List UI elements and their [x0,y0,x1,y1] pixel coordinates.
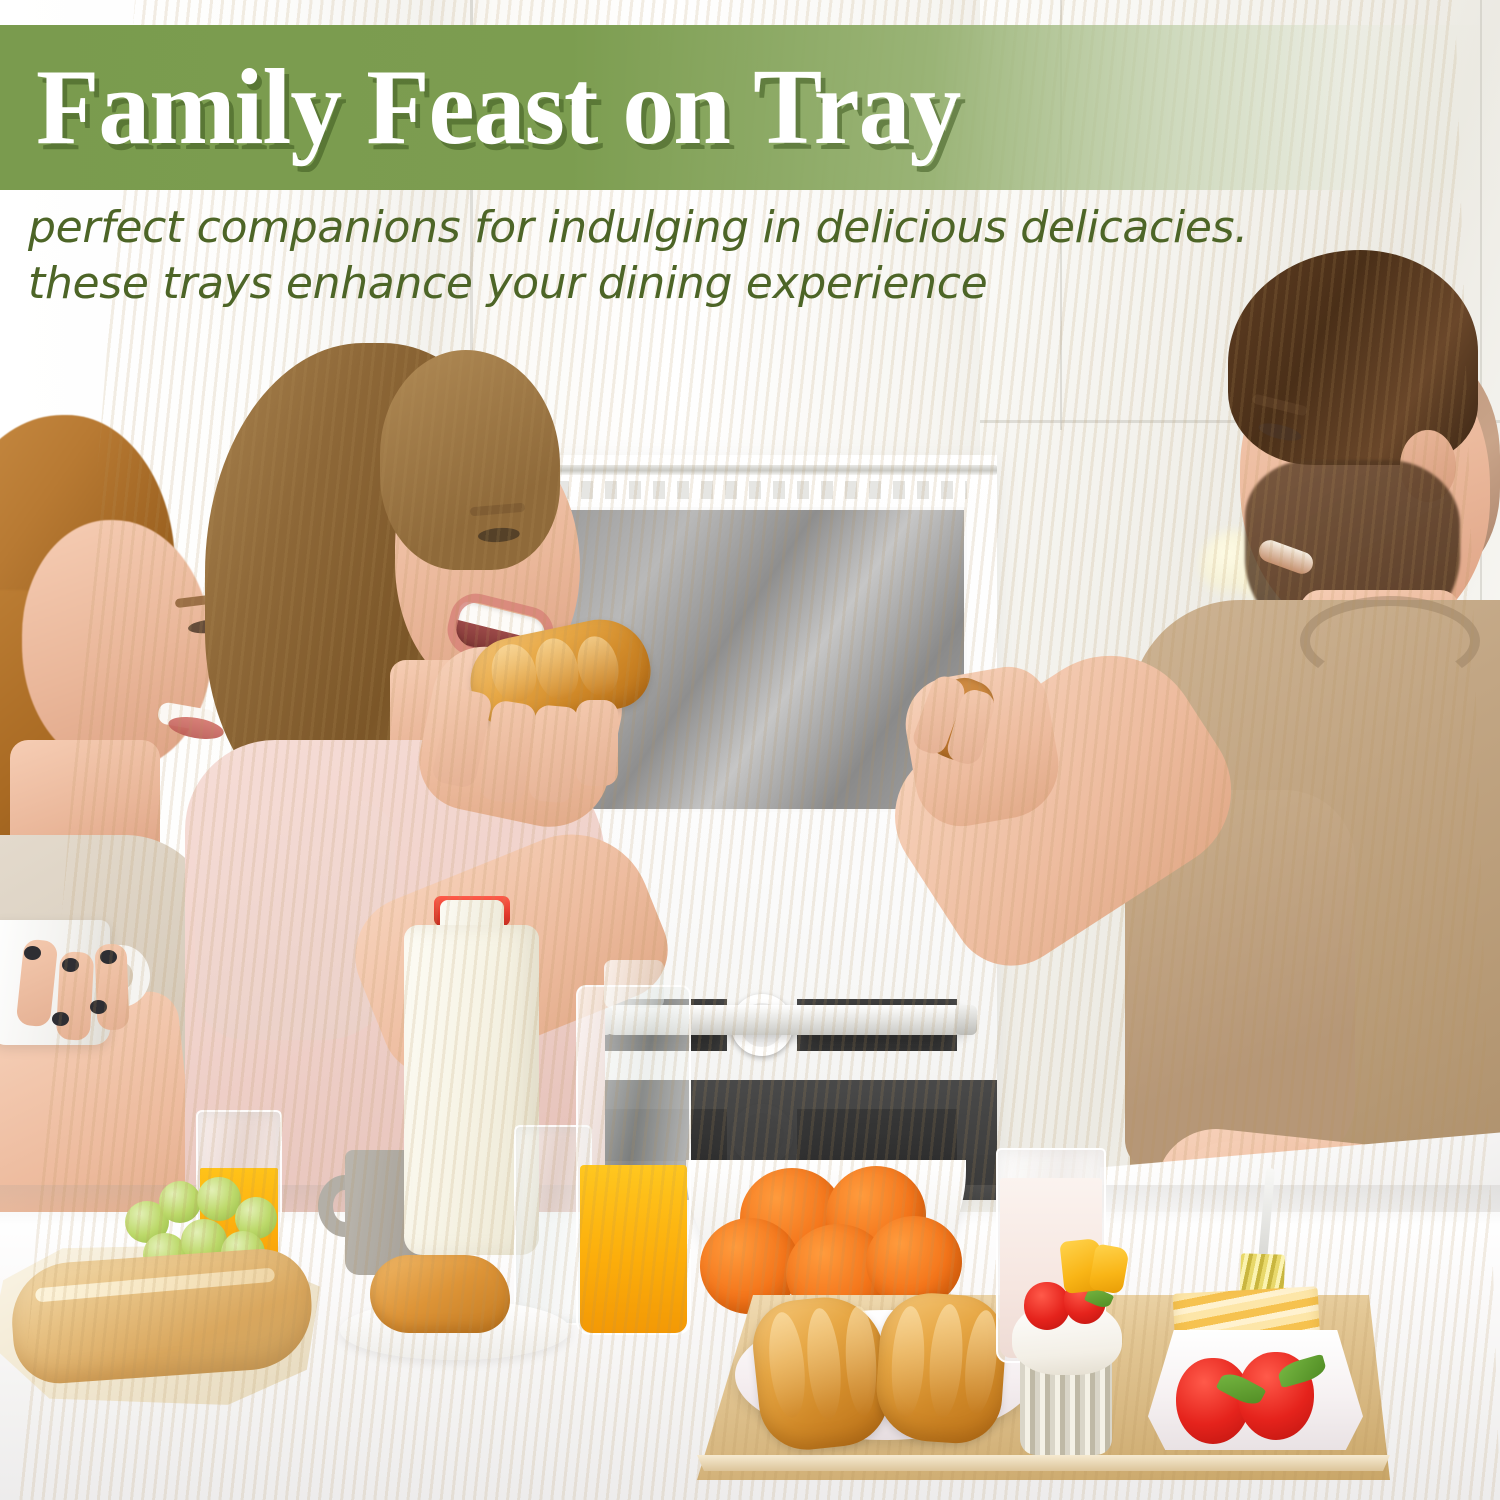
page-title: Family Feast on Tray [36,54,960,162]
tray-front-lip [690,1455,1390,1471]
subtitle-line-1: perfect companions for indulging in deli… [28,202,1248,253]
strawberry-on-dessert-1 [1024,1282,1070,1330]
subtitle-block: perfect companions for indulging in deli… [28,200,1448,312]
title-banner: Family Feast on Tray [0,25,1500,190]
subtitle-line-2: these trays enhance your dining experien… [28,256,1448,312]
product-banner-image: Family Feast on Tray perfect companions … [0,0,1500,1500]
woman-nail-1 [24,946,41,960]
